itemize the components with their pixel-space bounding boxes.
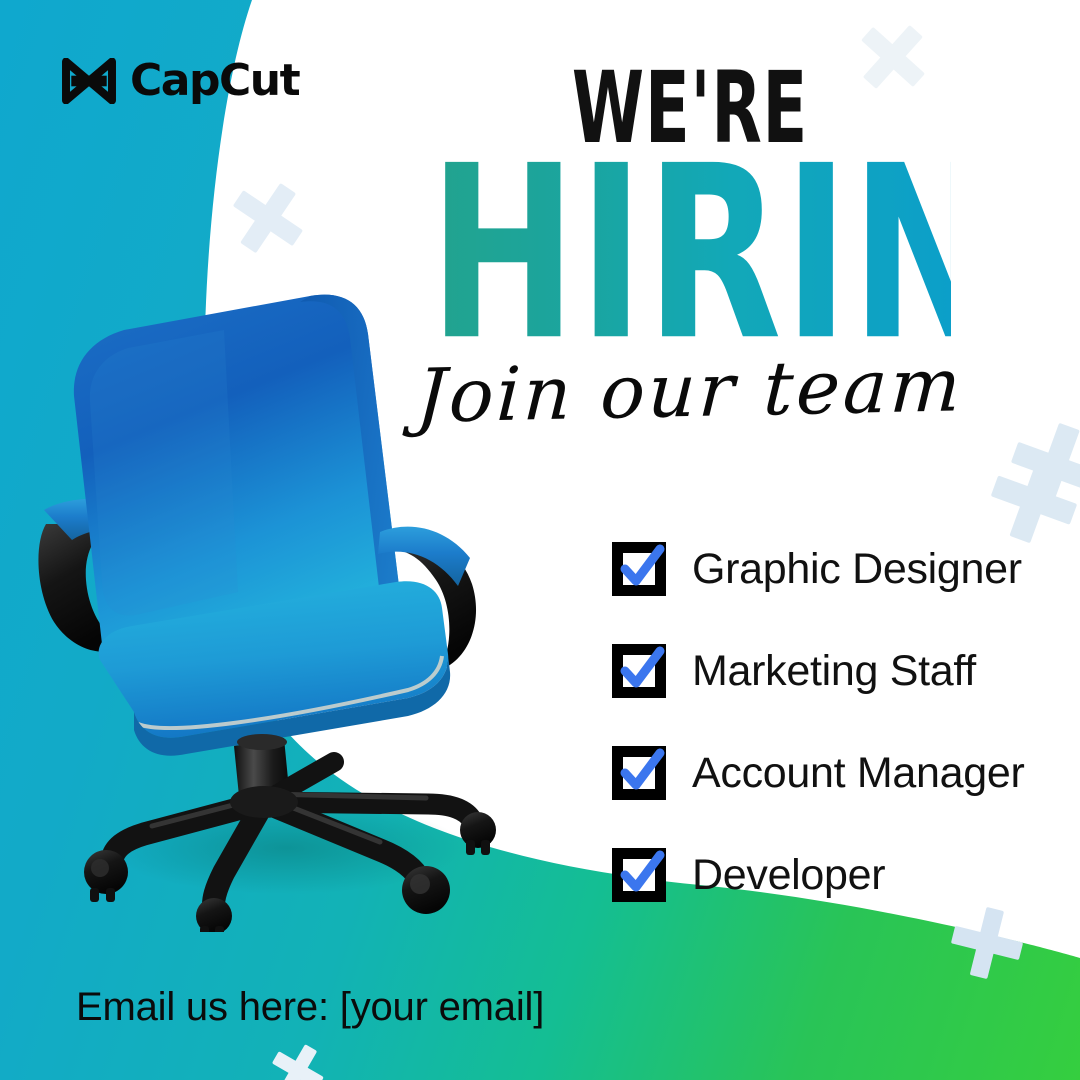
decorative-cross-icon-bottom-right — [945, 901, 1030, 986]
capcut-logo-text: CapCut — [130, 59, 299, 103]
decorative-cross-icon-bottom-center — [262, 1034, 333, 1080]
capcut-logo[interactable]: CapCut — [62, 58, 299, 104]
checkbox-checked-icon[interactable] — [612, 644, 666, 698]
list-item[interactable]: Graphic Designer — [612, 542, 1042, 596]
list-item[interactable]: Account Manager — [612, 746, 1042, 800]
headline-hiring: HIRING — [429, 152, 951, 358]
checkbox-checked-icon[interactable] — [612, 848, 666, 902]
checkbox-checked-icon[interactable] — [612, 542, 666, 596]
hiring-poster: CapCut WE'RE HIRING Join our team Graphi… — [0, 0, 1080, 1080]
decorative-cross-icon-left — [218, 168, 318, 268]
contact-email-text: Email us here: [your email] — [76, 985, 544, 1030]
decorative-cross-icon-right-lower — [980, 446, 1080, 554]
list-item-label: Graphic Designer — [692, 545, 1022, 594]
headline-block: WE'RE HIRING Join our team — [400, 62, 980, 428]
list-item-label: Account Manager — [692, 749, 1025, 798]
decorative-cross-icon-right-upper — [1000, 412, 1080, 522]
checkbox-checked-icon[interactable] — [612, 746, 666, 800]
headline-script: Join our team — [398, 348, 981, 434]
job-openings-list: Graphic Designer Marketing Staff Account… — [612, 542, 1042, 902]
list-item[interactable]: Marketing Staff — [612, 644, 1042, 698]
list-item-label: Developer — [692, 851, 885, 900]
list-item-label: Marketing Staff — [692, 647, 976, 696]
capcut-bowtie-icon — [62, 58, 116, 104]
list-item[interactable]: Developer — [612, 848, 1042, 902]
